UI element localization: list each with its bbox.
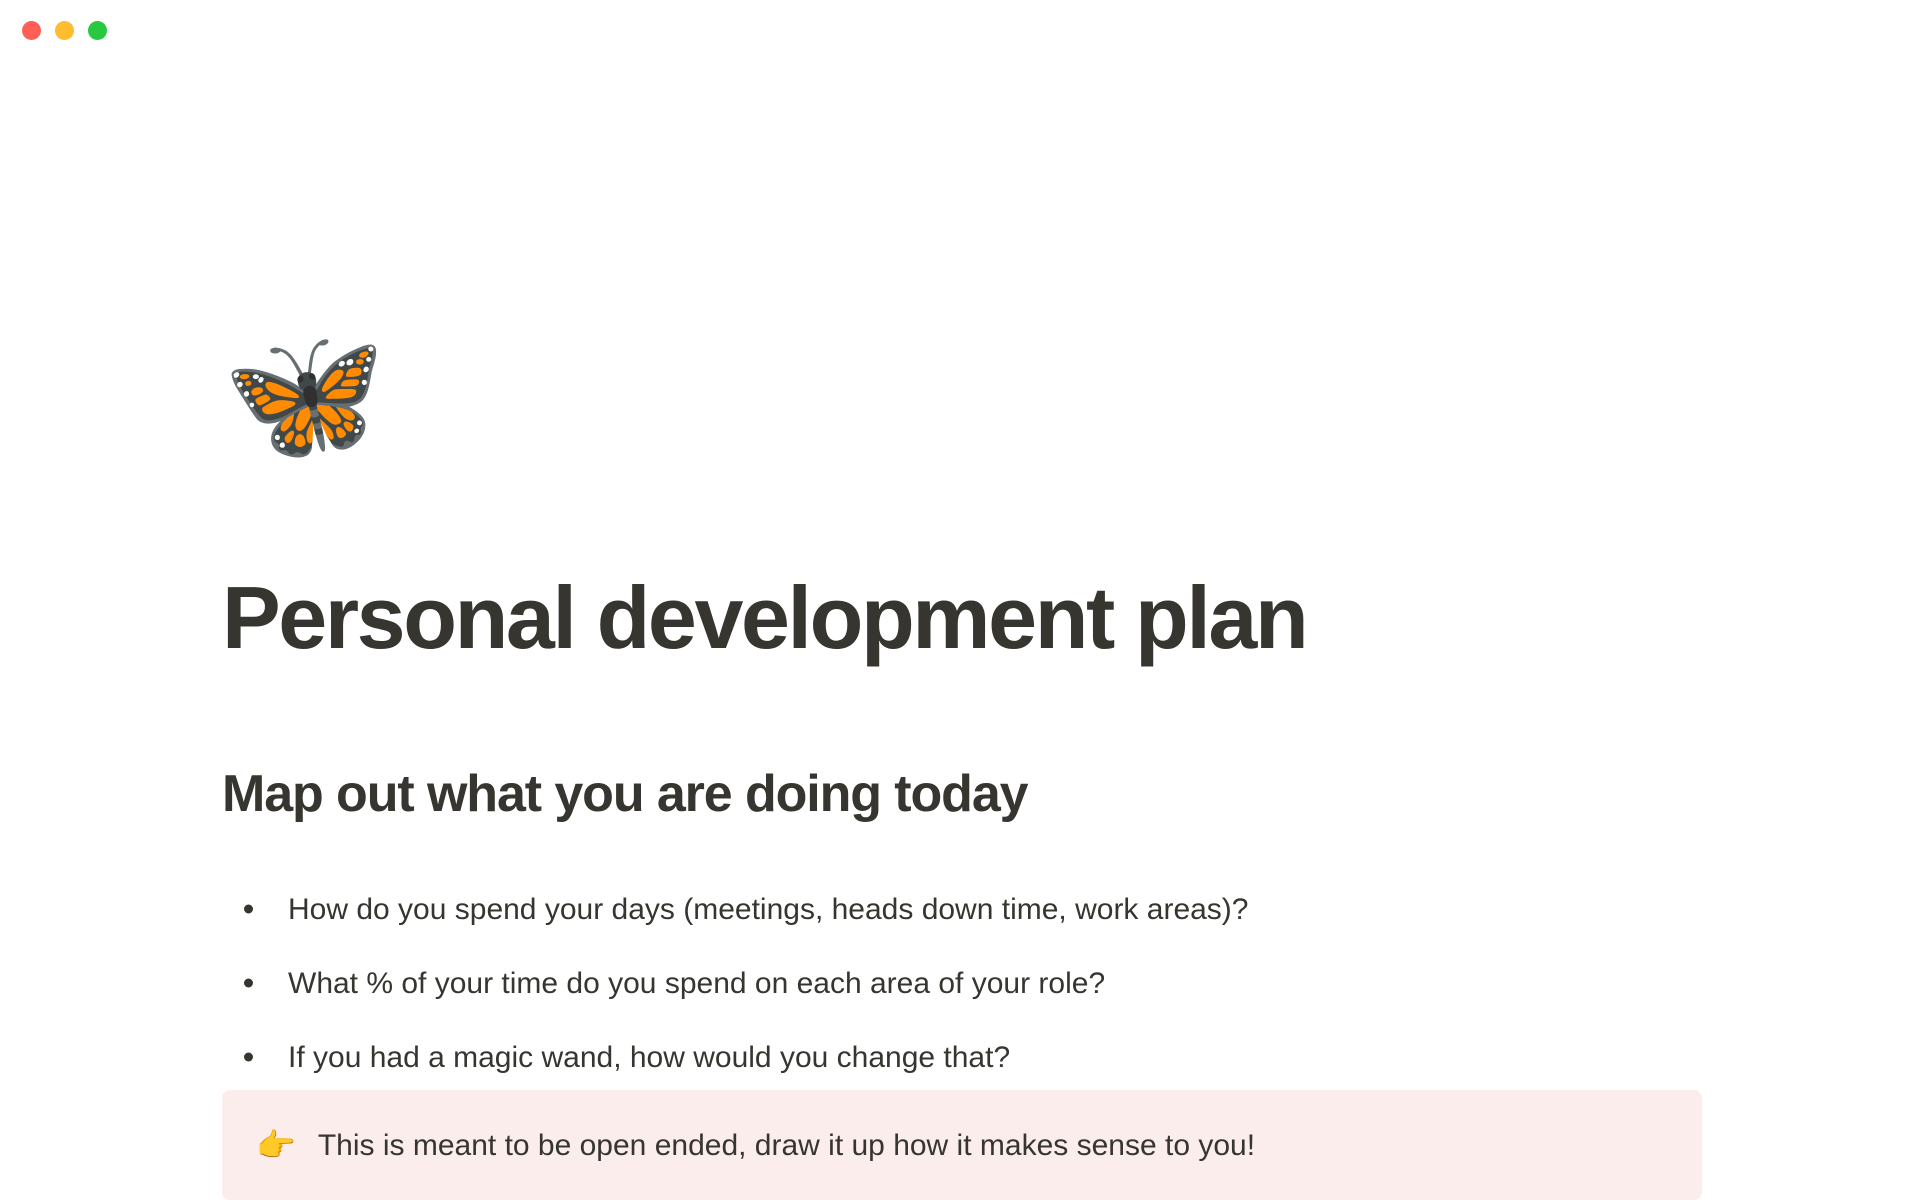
list-item[interactable]: If you had a magic wand, how would you c… [222,1020,1722,1094]
list-item-label: What % of your time do you spend on each… [288,961,1105,1006]
butterfly-emoji[interactable]: 🦋 [222,310,386,480]
list-item-label: How do you spend your days (meetings, he… [288,887,1248,932]
bullet-marker-icon [244,905,253,914]
bullet-marker-icon [244,979,253,988]
callout-block[interactable]: 👉 This is meant to be open ended, draw i… [222,1090,1702,1200]
page-title[interactable]: Personal development plan [222,572,1722,664]
bullet-list: How do you spend your days (meetings, he… [222,872,1722,1094]
list-item[interactable]: What % of your time do you spend on each… [222,946,1722,1020]
list-item-label: If you had a magic wand, how would you c… [288,1035,1010,1080]
callout-text: This is meant to be open ended, draw it … [318,1123,1255,1168]
list-item[interactable]: How do you spend your days (meetings, he… [222,872,1722,946]
bullet-marker-icon [244,1053,253,1062]
pointing-right-hand-emoji: 👉 [256,1129,296,1161]
document-body: 🦋 Personal development plan Map out what… [0,0,1920,1200]
section-heading[interactable]: Map out what you are doing today [222,766,1722,823]
